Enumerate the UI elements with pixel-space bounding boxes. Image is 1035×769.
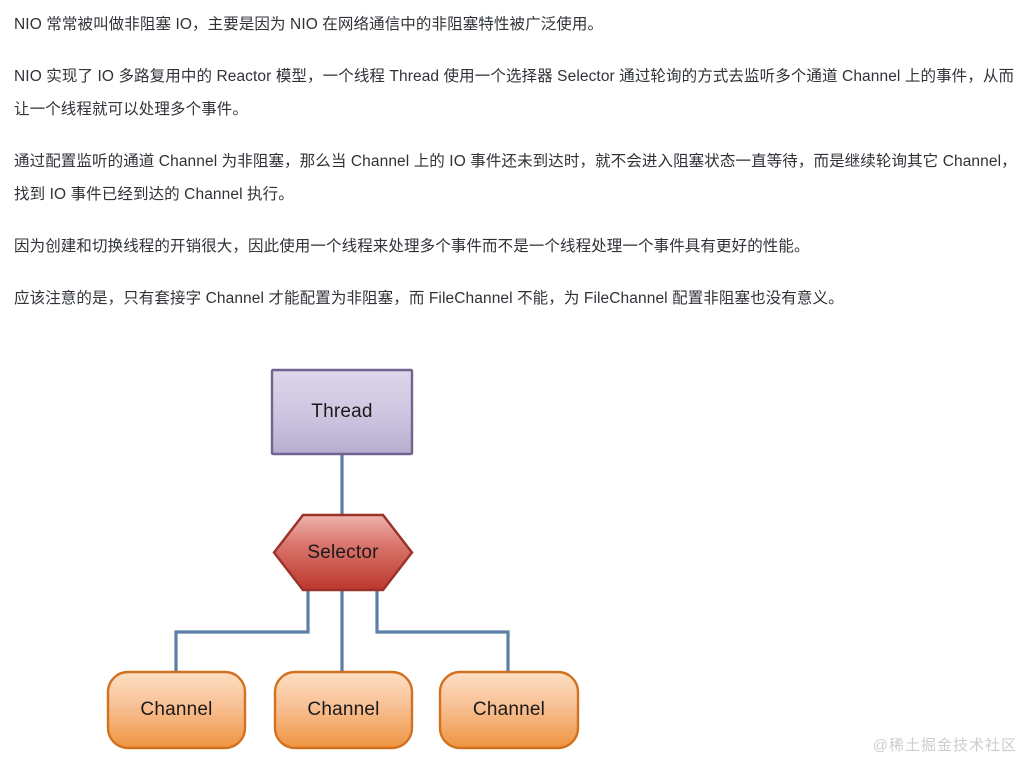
paragraph-1: NIO 常常被叫做非阻塞 IO，主要是因为 NIO 在网络通信中的非阻塞特性被广… <box>14 8 1022 41</box>
edge-selector-channel1 <box>176 590 308 674</box>
node-thread[interactable] <box>272 370 412 454</box>
node-channel-2[interactable] <box>275 672 412 748</box>
paragraph-2: NIO 实现了 IO 多路复用中的 Reactor 模型，一个线程 Thread… <box>14 60 1020 126</box>
paragraph-3: 通过配置监听的通道 Channel 为非阻塞，那么当 Channel 上的 IO… <box>14 145 1022 211</box>
paragraph-5: 应该注意的是，只有套接字 Channel 才能配置为非阻塞，而 FileChan… <box>14 282 1022 315</box>
article-body: NIO 常常被叫做非阻塞 IO，主要是因为 NIO 在网络通信中的非阻塞特性被广… <box>14 0 1022 334</box>
node-channel-3[interactable] <box>440 672 578 748</box>
node-channel-1[interactable] <box>108 672 245 748</box>
edge-selector-channel3 <box>377 590 508 674</box>
diagram-canvas <box>0 340 1035 769</box>
node-selector[interactable] <box>274 515 412 590</box>
site-watermark: @稀土掘金技术社区 <box>873 734 1017 755</box>
paragraph-4: 因为创建和切换线程的开销很大，因此使用一个线程来处理多个事件而不是一个线程处理一… <box>14 230 1022 263</box>
nio-reactor-diagram: Thread Selector Channel Channel Channel <box>0 340 1035 769</box>
